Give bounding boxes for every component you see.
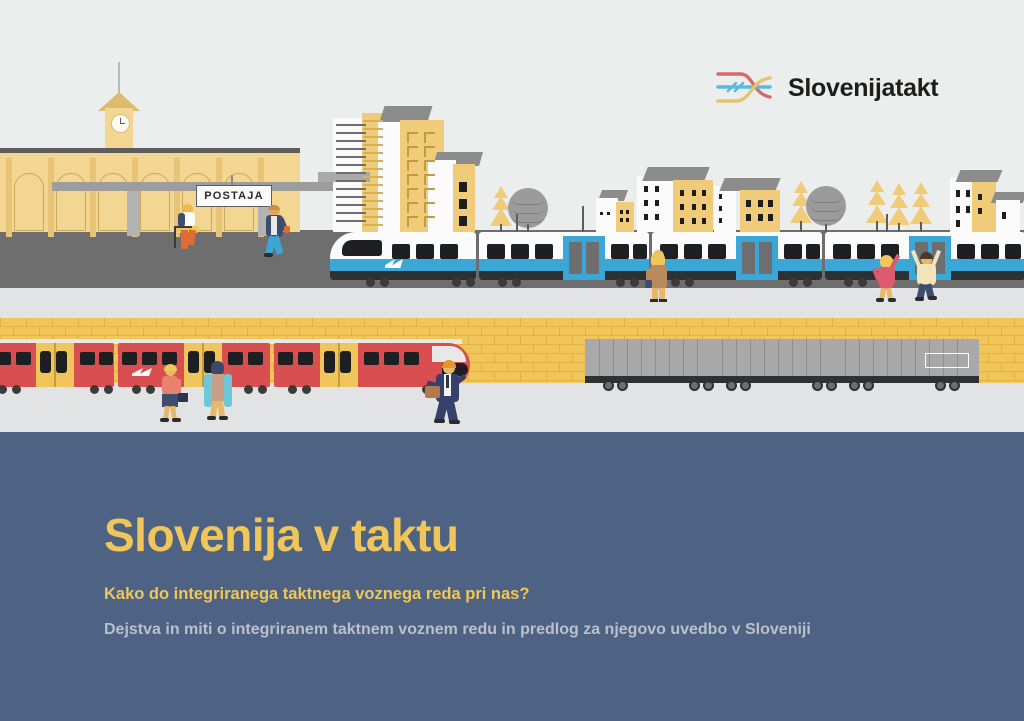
train-wheel [366,278,375,287]
train-wheel [90,385,99,394]
building-window [978,208,982,214]
conifer-tree [888,183,910,232]
building-window [1002,212,1006,219]
house-mid-yellow [740,190,780,232]
pantograph [582,206,584,232]
building-window [978,194,982,200]
building-window [424,132,435,143]
page-title: Slovenija v taktu [104,508,459,562]
building-window [680,218,684,224]
building-window [600,212,603,215]
building-window [758,214,763,221]
building-window [655,214,659,220]
footer-panel [0,432,1024,721]
building-window [644,186,648,192]
building-window [746,200,751,207]
train-wheel [844,278,853,287]
building-window [336,204,366,206]
freight-body [831,339,979,376]
tree-detail [810,205,842,212]
building-window [424,174,435,185]
building-window [363,176,383,178]
train-wheel [616,278,625,287]
person-businessman [425,362,473,428]
building-window [655,200,659,206]
building-window [363,144,383,146]
pantograph [516,214,518,232]
building-window [336,156,366,158]
building-window [424,146,435,157]
building-window [692,204,696,210]
building-window [746,214,751,221]
brand-logo[interactable]: Slovenijatakt [714,64,944,112]
building-window [655,186,659,192]
building-window [336,212,366,214]
train-wheel [104,385,113,394]
house-tall-roof [642,167,710,181]
building-window [407,188,418,199]
freight-wheel [863,380,874,391]
tree-detail [810,196,842,203]
building-window [607,212,610,215]
building-window [336,188,366,190]
building-window [758,200,763,207]
round-tree [508,188,548,232]
building-window [680,204,684,210]
building-window [363,120,383,122]
cover-page: POSTAJA [0,0,1024,721]
freight-wheel [740,380,751,391]
building-window [702,204,706,210]
train-wheel [803,278,812,287]
three-rail-lines-logo-icon [714,66,778,110]
building-window [336,164,366,166]
train-car-head [330,232,476,280]
building-window [956,220,960,227]
page-subtitle: Kako do integriranega taktnega voznega r… [104,585,529,604]
tree-detail [512,198,544,205]
train-wheel [146,385,155,394]
train-car [118,343,270,387]
building-window [620,218,623,222]
building-window [336,132,366,134]
train-wheel [288,385,297,394]
tree-detail [512,207,544,214]
building-window [956,206,960,213]
tree-detail [810,214,842,221]
train-wheel [258,385,267,394]
conifer-tree [866,180,888,232]
building-window [719,206,722,211]
station-sign-label: POSTAJA [204,190,264,202]
building-window [407,146,418,157]
clock-icon [111,114,130,133]
train-wheel [858,278,867,287]
train-wheel [452,278,461,287]
building-window [407,174,418,185]
building-window [407,216,418,227]
train-car [0,343,114,387]
building-window [336,140,366,142]
building-window [424,188,435,199]
building-window [363,168,383,170]
train-wheel [512,278,521,287]
building-window [966,190,970,197]
building-window [424,216,435,227]
freight-wheel [603,380,614,391]
train-wheel [498,278,507,287]
building-window [692,190,696,196]
house-mid-white [714,186,736,232]
building-window [363,152,383,154]
building-window [692,218,696,224]
freight-wheel [617,380,628,391]
house-small-left [596,198,618,232]
freight-plate [925,353,969,368]
building-window [363,128,383,130]
building-window [336,124,366,126]
building-window [459,199,467,209]
building-window [336,196,366,198]
building-window [336,172,366,174]
page-tagline: Dejstva in miti o integriranem taktnem v… [104,621,811,639]
tower-spire [118,62,120,94]
building-window [363,160,383,162]
freight-wheel [812,380,823,391]
building-window [768,214,773,221]
train-wheel [12,385,21,394]
person-teal-coat [200,362,236,424]
building-window [363,224,383,226]
building-window [626,218,629,222]
building-window [336,180,366,182]
building-window [407,160,418,171]
building-window [719,194,722,199]
building-window [459,216,467,226]
building-window [407,132,418,143]
freight-car [831,339,979,386]
freight-wheel [949,380,960,391]
house-far-right-annex [996,200,1020,232]
building-window [363,184,383,186]
building-window [336,220,366,222]
brand-name: Slovenijatakt [788,74,938,103]
person-cheering-red [870,252,904,302]
train-car [652,232,822,280]
train-wheel [302,385,311,394]
train-car [479,232,649,280]
person-with-bag [645,250,675,302]
building-window [363,192,383,194]
building-window [336,148,366,150]
person-pink-shirt [155,365,187,423]
building-window [719,218,722,223]
train-wheel [380,278,389,287]
building-window [424,202,435,213]
person-seated [168,204,208,252]
train-wheel [789,278,798,287]
building-window [702,190,706,196]
building-window [644,214,648,220]
person-cheering-cream [906,248,946,302]
train-wheel [132,385,141,394]
pantograph [886,214,888,232]
building-window [768,200,773,207]
canopy-column [127,191,140,236]
freight-wheel [726,380,737,391]
building-window [620,210,623,214]
building-window [702,218,706,224]
building-window [424,160,435,171]
freight-wheel [689,380,700,391]
house-far-right-roof [956,170,1003,182]
person-walking-coffee [258,205,292,257]
house-small-left-annex [616,202,634,232]
building-window [680,190,684,196]
house-far-right-yellow [972,182,996,232]
building-window [407,202,418,213]
building-window [363,208,383,210]
building-window [966,206,970,213]
building-window [363,216,383,218]
building-window [956,190,960,197]
building-window [459,182,467,192]
building-window [644,200,648,206]
freight-wheel [935,380,946,391]
train-wheel [630,278,639,287]
building-window [363,136,383,138]
freight-wheel [849,380,860,391]
round-tree [806,186,846,232]
building-window [363,200,383,202]
train-wheel [466,278,475,287]
conifer-tree [910,182,932,232]
building-window [626,210,629,214]
train-wheel [244,385,253,394]
platform-canopy [52,182,337,191]
train-wheel [685,278,694,287]
